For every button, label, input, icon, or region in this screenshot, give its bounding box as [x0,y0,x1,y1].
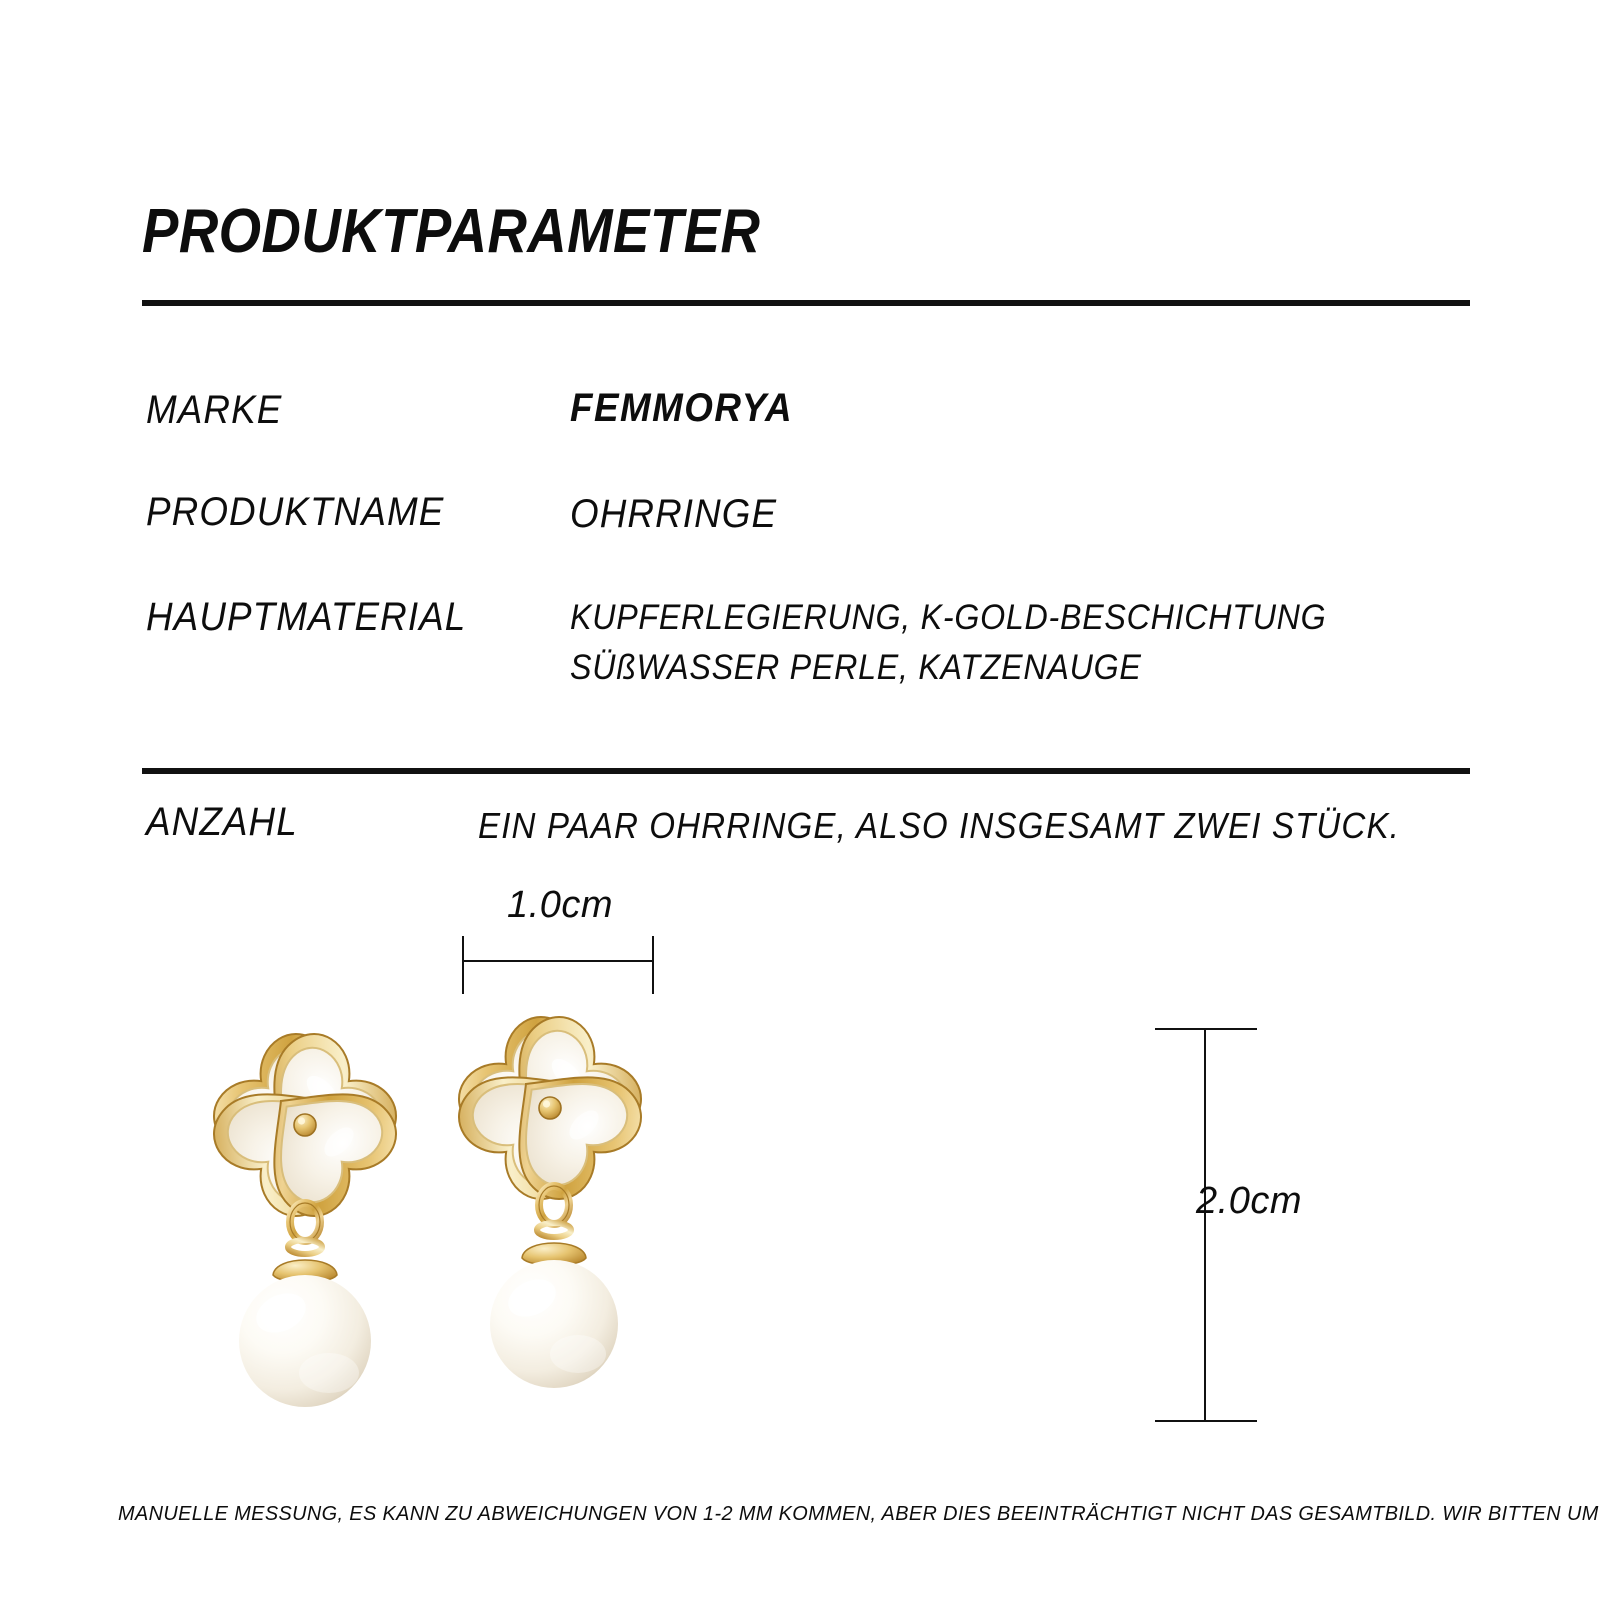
dimension-height-cap-bottom [1155,1420,1257,1422]
product-image [170,985,690,1425]
dimension-height-cap-top [1155,1028,1257,1030]
measurement-disclaimer: MANUELLE MESSUNG, ES KANN ZU ABWEICHUNGE… [118,1502,1457,1526]
clover-motif [450,1003,650,1213]
divider-top [142,300,1470,306]
spec-label-produktname: PRODUKTNAME [146,490,470,535]
page-title: PRODUKTPARAMETER [142,196,760,267]
pearl-bead [239,1275,371,1407]
product-parameter-card: PRODUKTPARAMETER MARKE FEMMORYA PRODUKTN… [0,0,1600,1600]
dimension-height-line [1204,1028,1206,1422]
dimension-height-bar [1155,1028,1257,1422]
spec-label-hauptmaterial: HAUPTMATERIAL [146,595,494,640]
spec-value-marke: FEMMORYA [570,386,812,431]
spec-value-hauptmaterial-line1: KUPFERLEGIERUNG, K-GOLD-BESCHICHTUNG [570,598,1392,638]
dimension-width-label: 1.0cm [470,884,650,927]
spec-value-anzahl: EIN PAAR OHRRINGE, ALSO INSGESAMT ZWEI S… [478,805,1480,847]
dimension-width-line [462,960,654,962]
spec-value-hauptmaterial-line2: SÜßWASSER PERLE, KATZENAUGE [570,648,1191,688]
dimension-height-label: 2.0cm [1196,1180,1302,1223]
clover-motif [205,1020,405,1230]
spec-label-anzahl: ANZAHL [146,800,311,845]
earring-right [450,990,650,1420]
spec-label-marke: MARKE [146,388,294,433]
earring-left [205,1007,405,1437]
spec-value-produktname: OHRRINGE [570,492,795,537]
divider-middle [142,768,1470,774]
pearl-bead [490,1260,618,1388]
